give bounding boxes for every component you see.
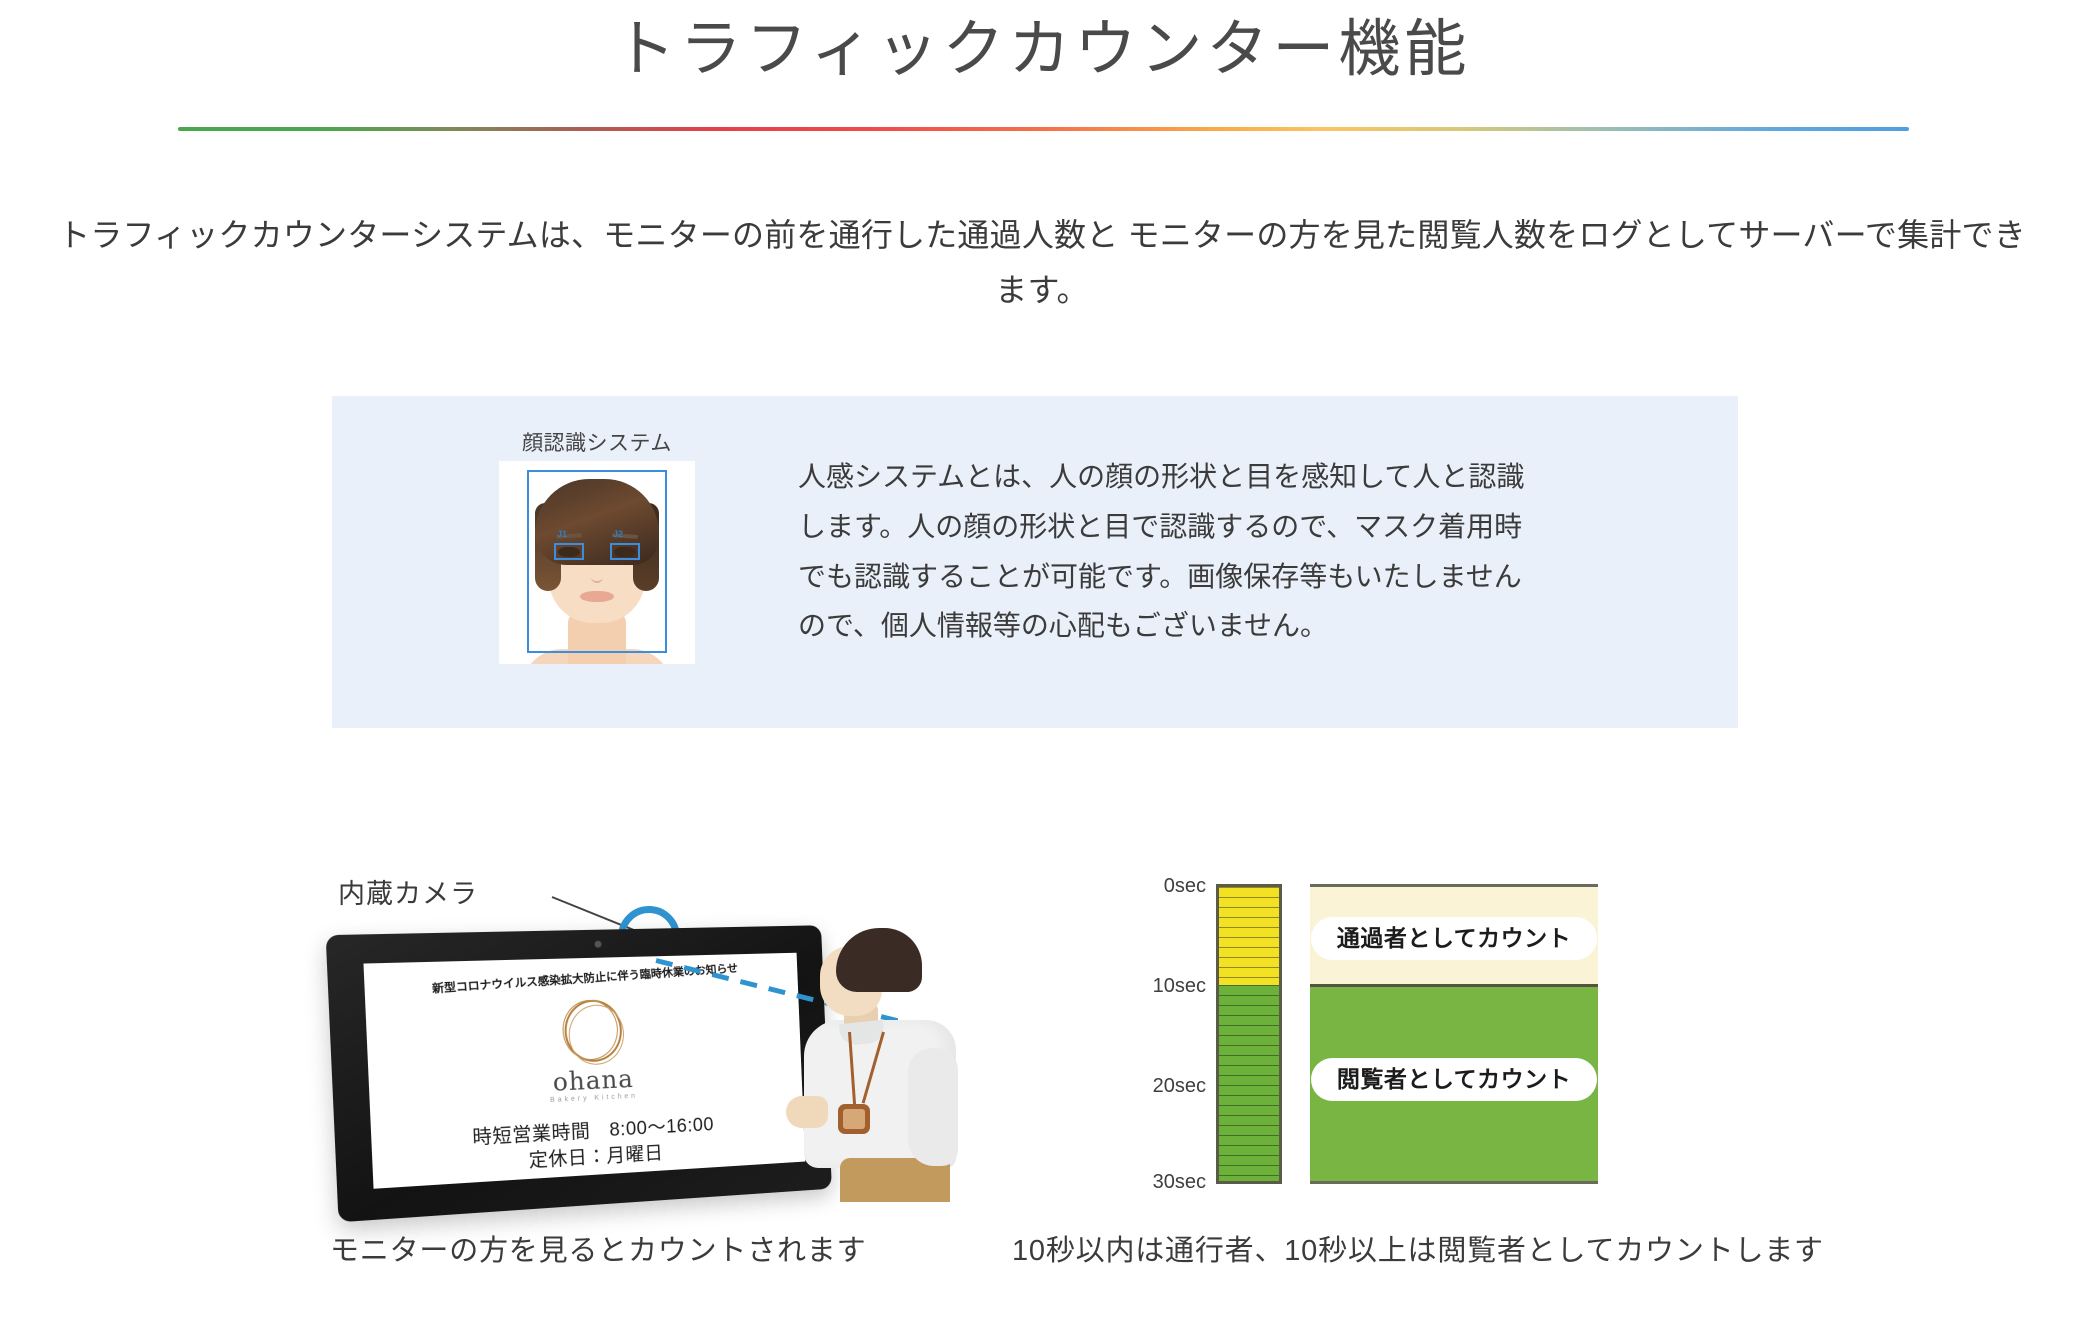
eye-detection-tag-j1: J1 bbox=[557, 530, 567, 539]
built-in-camera-label: 内蔵カメラ bbox=[338, 872, 478, 911]
person-arm bbox=[908, 1048, 958, 1166]
tablet-device: 新型コロナウイルス感染拡大防止に伴う臨時休業のお知らせ ohana Bakery… bbox=[326, 925, 832, 1222]
eye-detection-tag-j2: J2 bbox=[613, 530, 623, 539]
eye-detection-box-right bbox=[610, 543, 640, 560]
chart-label-passerby: 通過者としてカウント bbox=[1311, 917, 1597, 960]
monitor-illustration: 内蔵カメラ 新型コロナウイルス感染拡大防止に伴う臨時休業のお知らせ ohana … bbox=[330, 870, 1020, 1200]
caption-chart: 10秒以内は通行者、10秒以上は閲覧者としてカウントします bbox=[1012, 1234, 1824, 1269]
tablet-screen: 新型コロナウイルス感染拡大防止に伴う臨時休業のお知らせ ohana Bakery… bbox=[363, 953, 805, 1189]
eye-detection-box-left bbox=[554, 543, 584, 560]
chart-axis-labels: 0sec 10sec 20sec 30sec bbox=[1138, 872, 1210, 1200]
axis-tick-0sec: 0sec bbox=[1164, 876, 1206, 896]
chart-label-viewer: 閲覧者としてカウント bbox=[1311, 1058, 1597, 1101]
person-illustration bbox=[782, 928, 997, 1200]
axis-tick-30sec: 30sec bbox=[1153, 1172, 1206, 1192]
info-panel-body-text: 人感システムとは、人の顔の形状と目を感知して人と認識します。人の顔の形状と目で認… bbox=[798, 452, 1548, 651]
chart-time-ruler bbox=[1216, 884, 1282, 1184]
face-recognition-caption: 顔認識システム bbox=[497, 433, 697, 454]
chart-ruler-viewer-segment bbox=[1219, 985, 1279, 1181]
face-photo: J1 J2 bbox=[499, 461, 695, 664]
ohana-logo-icon bbox=[563, 999, 623, 1063]
axis-tick-20sec: 20sec bbox=[1153, 1076, 1206, 1096]
person-hair bbox=[836, 928, 922, 992]
page-title: トラフィックカウンター機能 bbox=[0, 14, 2084, 85]
chart-regions: 通過者としてカウント 閲覧者としてカウント bbox=[1310, 884, 1598, 1184]
axis-tick-10sec: 10sec bbox=[1153, 976, 1206, 996]
chart-region-viewer: 閲覧者としてカウント bbox=[1310, 984, 1598, 1184]
tablet-camera-dot-icon bbox=[594, 941, 601, 948]
caption-monitor: モニターの方を見るとカウントされます bbox=[330, 1234, 866, 1269]
person-hand bbox=[786, 1096, 828, 1128]
time-threshold-chart: 0sec 10sec 20sec 30sec 通過者としてカウント 閲覧者として… bbox=[1138, 872, 1598, 1200]
chart-region-passerby: 通過者としてカウント bbox=[1310, 884, 1598, 984]
face-detection-box bbox=[527, 470, 667, 653]
lead-paragraph: トラフィックカウンターシステムは、モニターの前を通行した通過人数と モニターの方… bbox=[42, 208, 2042, 318]
person-id-badge bbox=[838, 1104, 870, 1134]
face-recognition-info-panel: 顔認識システム J1 J2 人感システムとは、人の顔の形状と目を感知して人と認識… bbox=[332, 396, 1738, 728]
face-recognition-figure: 顔認識システム J1 J2 bbox=[497, 433, 697, 664]
title-gradient-divider bbox=[178, 127, 1909, 131]
